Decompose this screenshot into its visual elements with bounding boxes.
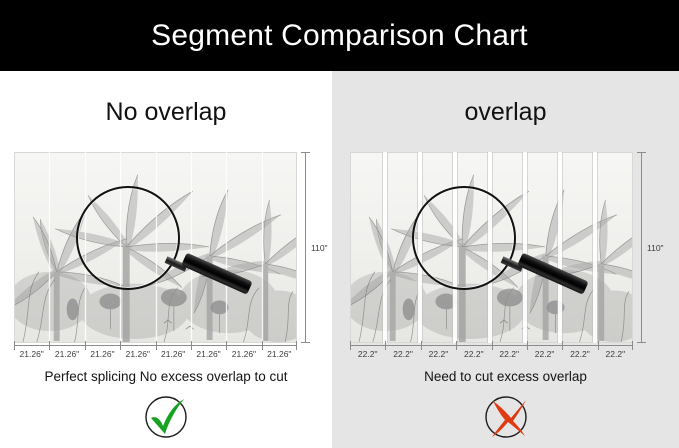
height-label-left: 110" — [311, 243, 328, 253]
panel-seam — [156, 152, 157, 343]
width-label: 21.26" — [14, 349, 49, 359]
cross-mark-icon — [482, 393, 530, 441]
panel-seam — [262, 152, 263, 343]
panel-no-overlap: No overlap — [0, 71, 332, 448]
dimension-cap-bottom — [301, 342, 310, 343]
width-label: 21.26" — [120, 349, 155, 359]
caption-no-overlap: Perfect splicing No excess overlap to cu… — [0, 369, 332, 384]
panel-overlap-seam — [453, 152, 457, 343]
panel-overlap-seam — [383, 152, 387, 343]
width-label: 22.2" — [527, 349, 562, 359]
panel-overlap-seam — [488, 152, 492, 343]
verdict-no-overlap — [0, 393, 332, 441]
panel-seam — [191, 152, 192, 343]
panel-heading-no-overlap: No overlap — [0, 98, 332, 127]
panel-overlap-seam — [523, 152, 527, 343]
height-dimension-left: 110" — [301, 152, 335, 343]
width-ruler-right: 22.2" 22.2" 22.2" 22.2" 22.2" 22.2" 22.2… — [350, 345, 633, 361]
width-label: 22.2" — [562, 349, 597, 359]
verdict-overlap — [332, 393, 679, 441]
width-label: 22.2" — [456, 349, 491, 359]
width-ruler-left: 21.26" 21.26" 21.26" 21.26" 21.26" 21.26… — [14, 345, 297, 361]
mural-image-no-overlap — [14, 152, 297, 343]
width-label: 22.2" — [350, 349, 385, 359]
width-label: 22.2" — [421, 349, 456, 359]
width-label: 21.26" — [85, 349, 120, 359]
height-dimension-right: 110" — [637, 152, 671, 343]
width-label-group-right: 22.2" 22.2" 22.2" 22.2" 22.2" 22.2" 22.2… — [350, 349, 633, 359]
panel-overlap-seam — [593, 152, 597, 343]
panel-overlap-seam — [558, 152, 562, 343]
width-label: 21.26" — [156, 349, 191, 359]
panel-heading-overlap: overlap — [332, 98, 679, 127]
height-label-right: 110" — [647, 243, 664, 253]
dimension-line — [641, 152, 642, 343]
dimension-cap-bottom — [637, 342, 646, 343]
panel-seam — [226, 152, 227, 343]
page-title: Segment Comparison Chart — [151, 19, 528, 53]
width-label-group-left: 21.26" 21.26" 21.26" 21.26" 21.26" 21.26… — [14, 349, 297, 359]
width-label: 22.2" — [492, 349, 527, 359]
width-label: 22.2" — [385, 349, 420, 359]
check-mark-icon — [142, 393, 190, 441]
caption-overlap: Need to cut excess overlap — [332, 369, 679, 384]
dimension-cap-top — [637, 152, 646, 153]
width-label: 21.26" — [191, 349, 226, 359]
panel-seam — [85, 152, 86, 343]
comparison-chart-root: Segment Comparison Chart No overlap — [0, 0, 679, 448]
width-label: 21.26" — [262, 349, 297, 359]
width-label: 21.26" — [226, 349, 261, 359]
title-bar: Segment Comparison Chart — [0, 0, 679, 71]
width-label: 22.2" — [598, 349, 633, 359]
panel-seam — [49, 152, 50, 343]
panel-overlap: overlap — [332, 71, 679, 448]
panel-overlap-seam — [418, 152, 422, 343]
mural-image-overlap — [350, 152, 633, 343]
width-label: 21.26" — [49, 349, 84, 359]
panel-seam — [120, 152, 121, 343]
dimension-cap-top — [301, 152, 310, 153]
dimension-line — [305, 152, 306, 343]
